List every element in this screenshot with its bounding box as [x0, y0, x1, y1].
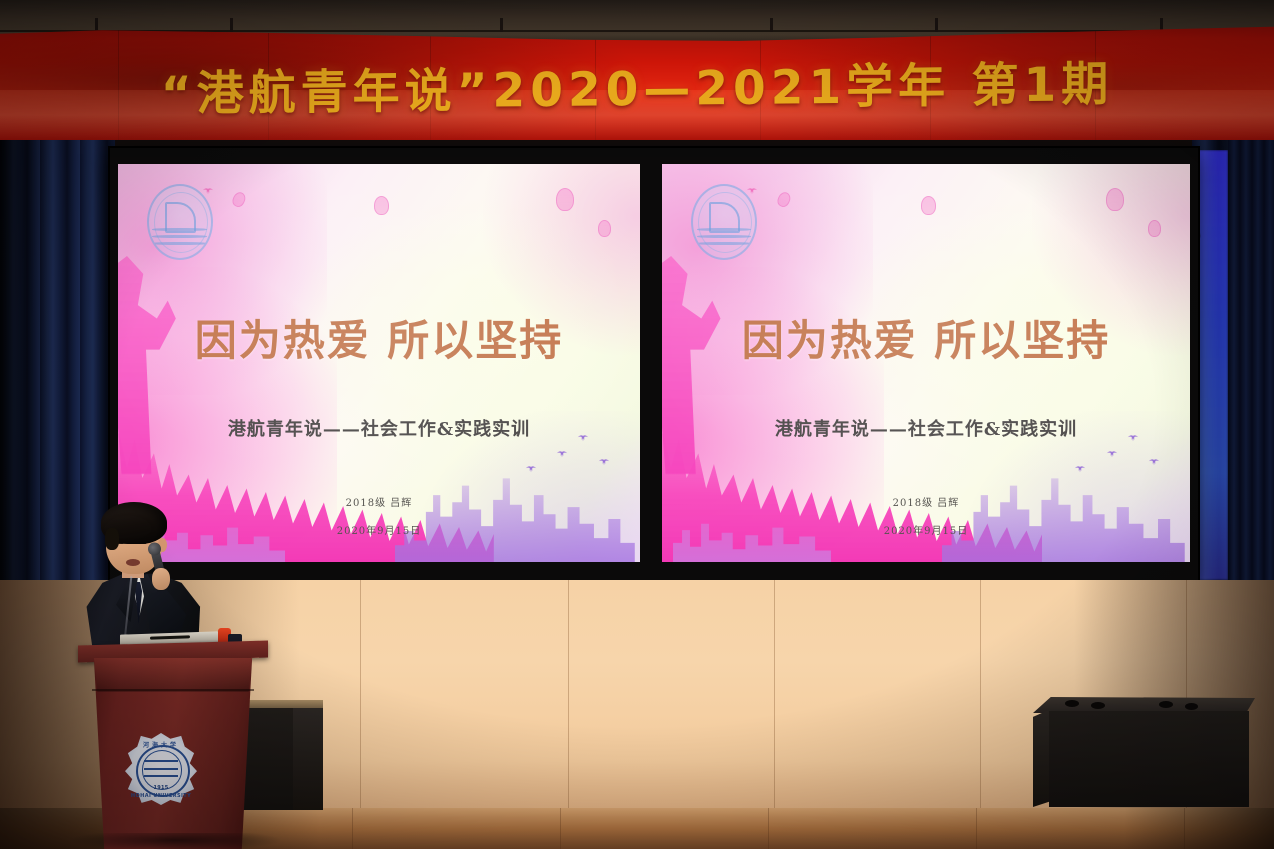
- hohai-university-emblem-icon: 河海大学 1915 HOHAI UNIVERSITY: [125, 733, 197, 805]
- hot-air-balloon-icon: [1106, 188, 1124, 211]
- stage-scene-photo: 因为热爱 所以坚持 港航青年说——社会工作&实践实训 2018级 吕辉 2020…: [0, 0, 1274, 849]
- podium-shadow: [70, 833, 280, 849]
- bird-icon: [525, 466, 537, 473]
- emblem-bar: [144, 775, 179, 777]
- slide-date: 2020年9月15日: [662, 522, 1190, 537]
- emblem-year: 1915: [125, 785, 197, 791]
- hand: [152, 568, 170, 590]
- emblem-wave-icon: [152, 228, 207, 231]
- wall-panel-seam: [774, 580, 775, 812]
- banner-hook: [935, 18, 938, 32]
- bird-icon: [746, 188, 758, 195]
- bird-icon: [202, 188, 214, 195]
- slide-subtitle: 港航青年说——社会工作&实践实训: [118, 415, 640, 441]
- emblem-english-name: HOHAI UNIVERSITY: [125, 793, 197, 799]
- banner-hook: [500, 18, 503, 32]
- podium-slanted-top: [87, 658, 259, 692]
- floor-seam: [352, 808, 353, 849]
- banner-title-text: “港航青年说”2020—2021学年 第1期: [0, 43, 1274, 125]
- floor-shadow: [1124, 808, 1274, 849]
- slide-title: 因为热爱 所以坚持: [118, 307, 640, 368]
- slide-presenter: 2018级 吕辉: [662, 494, 1190, 509]
- banner-hook: [230, 18, 233, 32]
- slide-title: 因为热爱 所以坚持: [662, 307, 1190, 368]
- emblem-bar: [144, 760, 179, 762]
- bird-icon: [1074, 466, 1086, 473]
- wall-panel-seam: [980, 580, 981, 812]
- slide-subtitle: 港航青年说——社会工作&实践实训: [662, 415, 1190, 441]
- floor-seam: [768, 808, 769, 849]
- banner-hook: [95, 18, 98, 32]
- emblem-wave-icon: [697, 242, 752, 245]
- hot-air-balloon-icon: [1148, 220, 1161, 237]
- speaker-handle-hole: [1185, 703, 1198, 710]
- bird-icon: [598, 459, 610, 466]
- speaker-handle-hole: [1065, 700, 1079, 707]
- bird-icon: [556, 451, 568, 458]
- hot-air-balloon-icon: [374, 196, 389, 215]
- screen-top-bar: [110, 148, 1198, 157]
- emblem-wave-icon: [697, 235, 752, 238]
- slide-panel-right: 因为热爱 所以坚持 港航青年说——社会工作&实践实训 2018级 吕辉 2020…: [662, 164, 1190, 562]
- speaker-handle-hole: [1159, 701, 1173, 708]
- emblem-wave-icon: [152, 235, 207, 238]
- wall-panel-seam: [568, 580, 569, 812]
- pen-icon: [150, 635, 190, 639]
- stage-subwoofer-speaker: [1033, 697, 1255, 809]
- speaker-handle-hole: [1091, 702, 1105, 709]
- mouth: [126, 559, 140, 566]
- hot-air-balloon-icon: [556, 188, 574, 211]
- banner-hook: [770, 18, 773, 32]
- hair: [101, 502, 167, 544]
- bird-icon: [1148, 459, 1160, 466]
- speaker-side-face: [293, 708, 323, 810]
- projection-screen: 因为热爱 所以坚持 港航青年说——社会工作&实践实训 2018级 吕辉 2020…: [110, 148, 1198, 580]
- emblem-wave-icon: [152, 242, 207, 245]
- bird-icon: [1106, 451, 1118, 458]
- emblem-wave-icon: [697, 228, 752, 231]
- podium-edge: [92, 689, 254, 691]
- speaking-podium: 河海大学 1915 HOHAI UNIVERSITY: [78, 643, 268, 849]
- emblem-bar: [144, 768, 179, 770]
- hot-air-balloon-icon: [598, 220, 611, 237]
- floor-seam: [560, 808, 561, 849]
- wall-panel-seam: [360, 580, 361, 812]
- speaker-front-face: [1049, 711, 1249, 807]
- floor-seam: [976, 808, 977, 849]
- hot-air-balloon-icon: [921, 196, 936, 215]
